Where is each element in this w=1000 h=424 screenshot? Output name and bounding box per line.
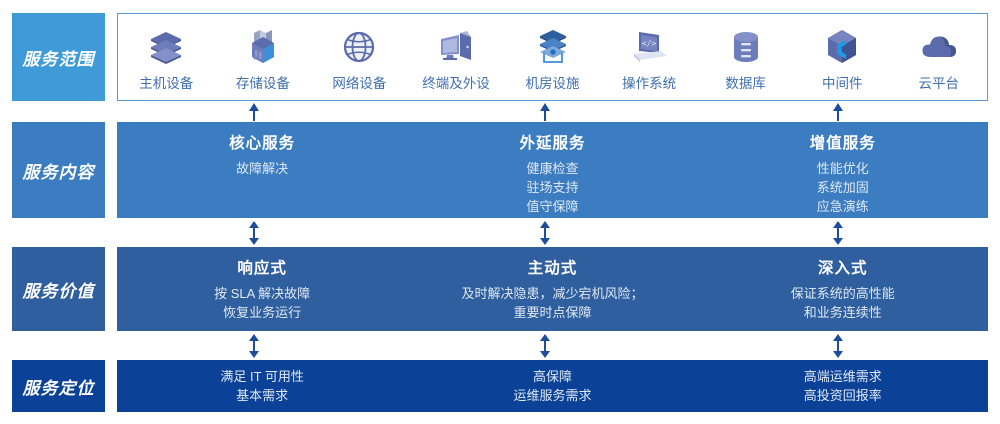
content-column-value-added-service[interactable]: 增值服务 性能优化 系统加固 应急演练 (698, 122, 988, 218)
column-line: 恢复业务运行 (223, 303, 301, 322)
scope-item-host-device[interactable]: 主机设备 (118, 14, 215, 100)
positioning-column-basic[interactable]: 满足 IT 可用性 基本需求 (117, 360, 407, 412)
scope-item-label: 主机设备 (139, 72, 193, 92)
server-stack-icon (145, 26, 187, 68)
scope-item-label: 网络设备 (332, 72, 386, 92)
scope-item-datacenter-facility[interactable]: 机房设施 (504, 14, 601, 100)
connector-arrow-bidirectional (246, 334, 262, 358)
scope-item-terminal-peripheral[interactable]: 终端及外设 (408, 14, 505, 100)
value-column-proactive[interactable]: 主动式 及时解决隐患，减少宕机风险； 重要时点保障 (407, 247, 697, 331)
row-body-service-positioning: 满足 IT 可用性 基本需求 高保障 运维服务需求 高端运维需求 高投资回报率 (117, 360, 988, 412)
database-icon (725, 26, 767, 68)
svg-text:</>: </> (642, 39, 657, 48)
column-title: 响应式 (237, 256, 287, 278)
column-line: 性能优化 (817, 159, 869, 178)
connector-arrow-bidirectional (830, 334, 846, 358)
globe-network-icon (338, 26, 380, 68)
column-line: 应急演练 (817, 197, 869, 216)
cube-middleware-icon (821, 26, 863, 68)
column-line: 基本需求 (236, 386, 288, 405)
desktop-pc-icon (435, 26, 477, 68)
scope-item-cloud-platform[interactable]: 云平台 (891, 14, 988, 100)
content-column-core-service[interactable]: 核心服务 故障解决 (117, 122, 407, 218)
column-line: 满足 IT 可用性 (220, 367, 304, 386)
column-line: 故障解决 (236, 159, 288, 178)
column-line: 保证系统的高性能 (791, 284, 895, 303)
column-line: 高端运维需求 (804, 367, 882, 386)
scope-item-label: 云平台 (919, 72, 960, 92)
column-line: 高投资回报率 (804, 386, 882, 405)
column-line: 系统加固 (817, 178, 869, 197)
row-service-scope: 服务范围 (0, 13, 1000, 101)
column-line: 健康检查 (526, 159, 578, 178)
service-framework-diagram: 服务范围 (0, 0, 1000, 424)
row-label-service-positioning: 服务定位 (12, 360, 105, 412)
scope-item-label: 机房设施 (526, 72, 580, 92)
row-label-service-content: 服务内容 (12, 122, 105, 218)
scope-item-middleware[interactable]: 中间件 (794, 14, 891, 100)
scope-item-label: 存储设备 (236, 72, 290, 92)
column-title: 深入式 (818, 256, 868, 278)
column-line: 高保障 (533, 367, 572, 386)
column-line: 驻场支持 (526, 178, 578, 197)
scope-item-label: 数据库 (725, 72, 766, 92)
content-column-extended-service[interactable]: 外延服务 健康检查 驻场支持 值守保障 (407, 122, 697, 218)
scope-item-network-device[interactable]: 网络设备 (311, 14, 408, 100)
connector-arrow-bidirectional (537, 334, 553, 358)
column-title: 核心服务 (229, 131, 295, 153)
column-line: 值守保障 (526, 197, 578, 216)
content-columns: 核心服务 故障解决 外延服务 健康检查 驻场支持 值守保障 增值服务 性能优化 … (117, 122, 988, 218)
laptop-os-icon: </> (628, 26, 670, 68)
scope-item-operating-system[interactable]: </> 操作系统 (601, 14, 698, 100)
connector-arrow-bidirectional (537, 221, 553, 245)
scope-item-label: 操作系统 (622, 72, 676, 92)
connector-arrow-up (246, 103, 262, 121)
row-service-content: 服务内容 核心服务 故障解决 外延服务 健康检查 驻场支持 值守保障 增值服务 … (0, 122, 1000, 218)
row-body-service-scope: 主机设备 (117, 13, 988, 101)
scope-item-label: 中间件 (822, 72, 863, 92)
column-title: 增值服务 (810, 131, 876, 153)
value-column-responsive[interactable]: 响应式 按 SLA 解决故障 恢复业务运行 (117, 247, 407, 331)
column-line: 及时解决隐患，减少宕机风险； (461, 284, 643, 303)
positioning-column-high-assurance[interactable]: 高保障 运维服务需求 (407, 360, 697, 412)
connector-arrow-bidirectional (830, 221, 846, 245)
scope-item-storage-device[interactable]: 存储设备 (215, 14, 312, 100)
value-columns: 响应式 按 SLA 解决故障 恢复业务运行 主动式 及时解决隐患，减少宕机风险；… (117, 247, 988, 331)
scope-item-label: 终端及外设 (422, 72, 490, 92)
connector-arrow-up (830, 103, 846, 121)
column-line: 按 SLA 解决故障 (214, 284, 310, 303)
cloud-icon (918, 26, 960, 68)
column-title: 主动式 (528, 256, 578, 278)
storage-array-icon (242, 26, 284, 68)
connector-arrow-up (537, 103, 553, 121)
connector-arrow-bidirectional (246, 221, 262, 245)
positioning-columns: 满足 IT 可用性 基本需求 高保障 运维服务需求 高端运维需求 高投资回报率 (117, 360, 988, 412)
row-body-service-content: 核心服务 故障解决 外延服务 健康检查 驻场支持 值守保障 增值服务 性能优化 … (117, 122, 988, 218)
data-center-icon (532, 26, 574, 68)
scope-item-list: 主机设备 (118, 14, 987, 100)
scope-item-database[interactable]: 数据库 (697, 14, 794, 100)
value-column-in-depth[interactable]: 深入式 保证系统的高性能 和业务连续性 (698, 247, 988, 331)
row-label-service-value: 服务价值 (12, 247, 105, 331)
positioning-column-high-end[interactable]: 高端运维需求 高投资回报率 (698, 360, 988, 412)
column-line: 和业务连续性 (804, 303, 882, 322)
row-body-service-value: 响应式 按 SLA 解决故障 恢复业务运行 主动式 及时解决隐患，减少宕机风险；… (117, 247, 988, 331)
row-service-value: 服务价值 响应式 按 SLA 解决故障 恢复业务运行 主动式 及时解决隐患，减少… (0, 247, 1000, 331)
row-service-positioning: 服务定位 满足 IT 可用性 基本需求 高保障 运维服务需求 高端运维需求 高投… (0, 360, 1000, 412)
row-label-service-scope: 服务范围 (12, 13, 105, 101)
column-line: 运维服务需求 (513, 386, 591, 405)
column-line: 重要时点保障 (513, 303, 591, 322)
column-title: 外延服务 (519, 131, 585, 153)
